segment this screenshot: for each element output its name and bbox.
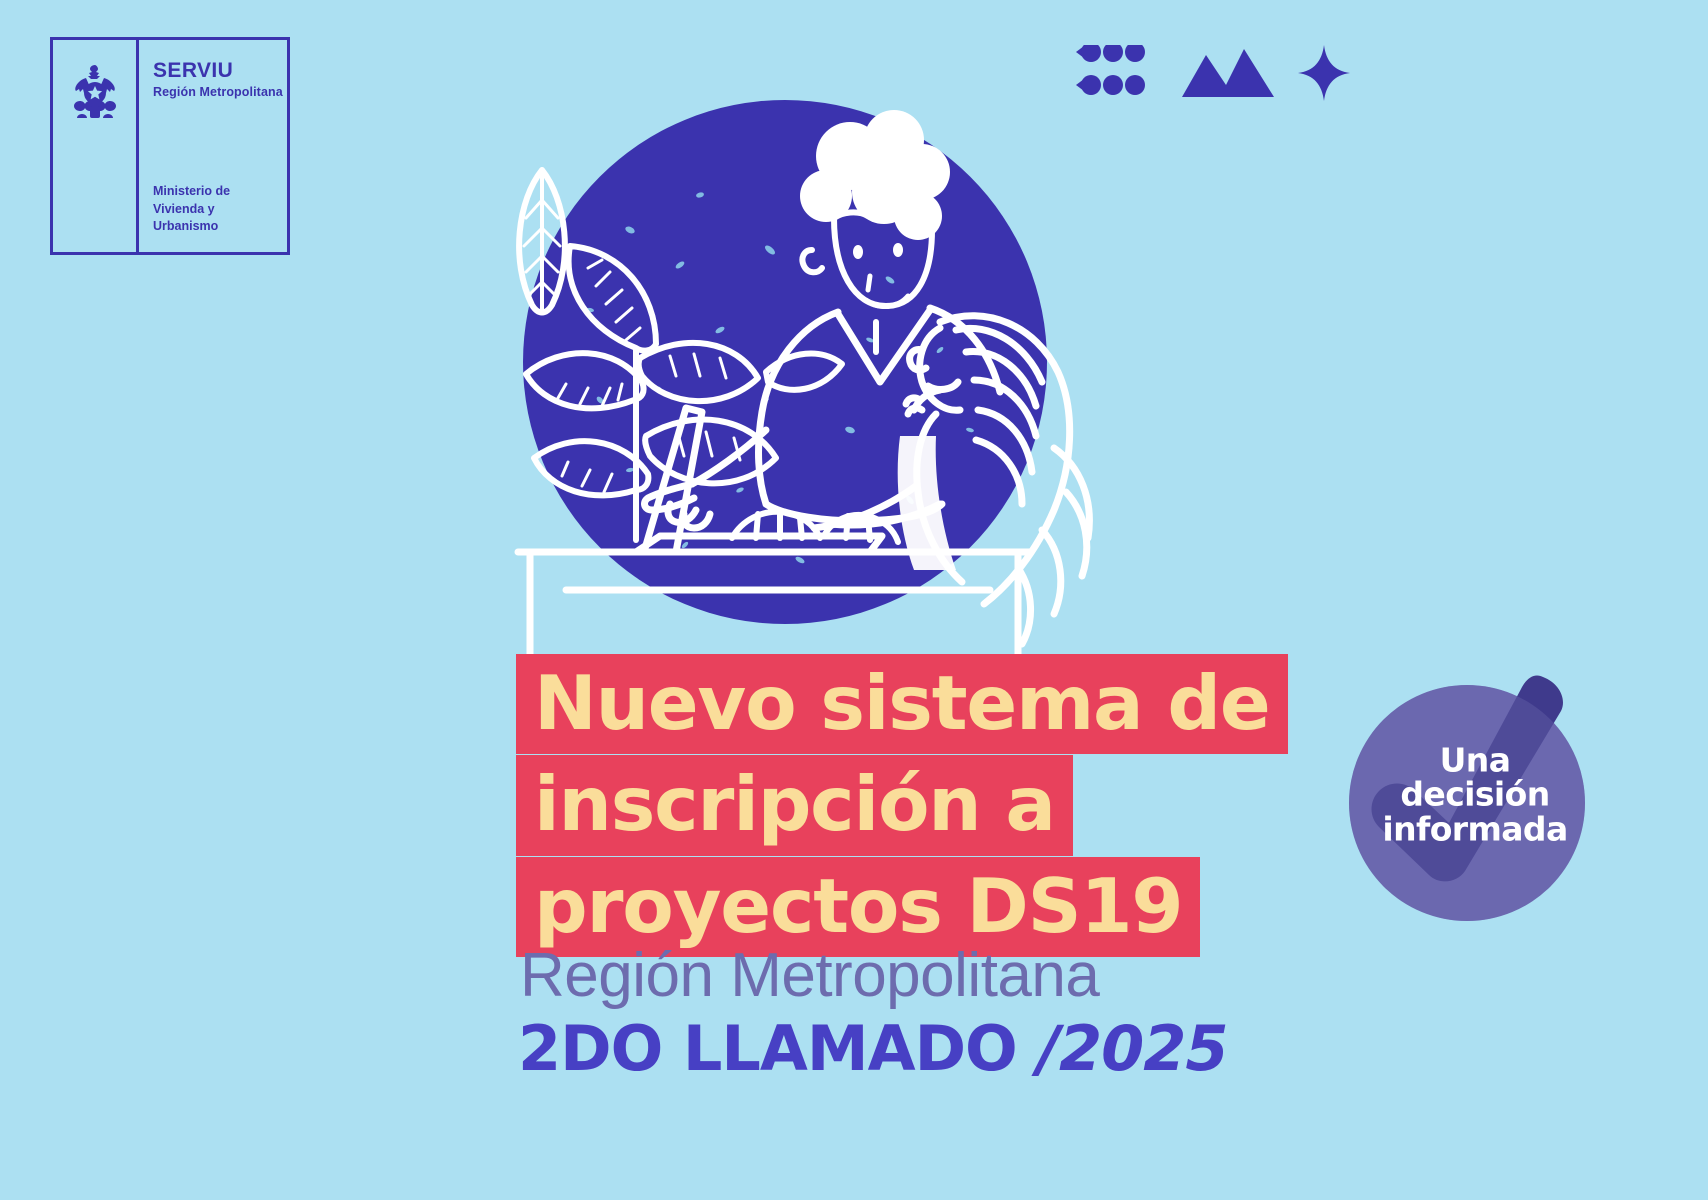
serviu-logo-block: SERVIU Región Metropolitana Ministerio d… [50, 37, 290, 255]
badge-line-2: decisión [1351, 778, 1599, 812]
badge-line-1: Una [1351, 744, 1599, 778]
headline: Nuevo sistema de inscripción a proyectos… [516, 654, 1288, 957]
serviu-name: SERVIU [153, 60, 287, 82]
status-badge: Una decisión informada [1345, 665, 1605, 925]
dots-pattern-icon [1076, 45, 1158, 101]
serviu-region: Región Metropolitana [153, 85, 287, 99]
ministry-text: Ministerio de Vivienda y Urbanismo [153, 183, 230, 236]
ministry-line-1: Ministerio de [153, 183, 230, 201]
two-people-at-laptop-illustration [470, 100, 1110, 660]
mountains-icon [1180, 47, 1276, 99]
poster-canvas: SERVIU Región Metropolitana Ministerio d… [0, 0, 1708, 1200]
subtitle-region: Región Metropolitana [520, 940, 1099, 1011]
logo-text-cell: SERVIU Región Metropolitana Ministerio d… [139, 40, 287, 252]
headline-line-2: inscripción a [516, 755, 1073, 855]
subtitle-call: 2DO LLAMADO /2025 [518, 1012, 1228, 1085]
decorative-marks [1076, 45, 1350, 101]
call-label: 2DO LLAMADO [518, 1012, 1017, 1085]
ministry-line-2: Vivienda y [153, 201, 230, 219]
headline-line-1: Nuevo sistema de [516, 654, 1288, 754]
chile-coat-of-arms-icon [62, 62, 128, 124]
ministry-line-3: Urbanismo [153, 218, 230, 236]
logo-crest-cell [53, 40, 139, 252]
badge-text: Una decisión informada [1345, 744, 1605, 847]
four-point-star-icon [1298, 45, 1350, 101]
call-year: /2025 [1037, 1012, 1227, 1085]
badge-line-3: informada [1351, 812, 1599, 846]
